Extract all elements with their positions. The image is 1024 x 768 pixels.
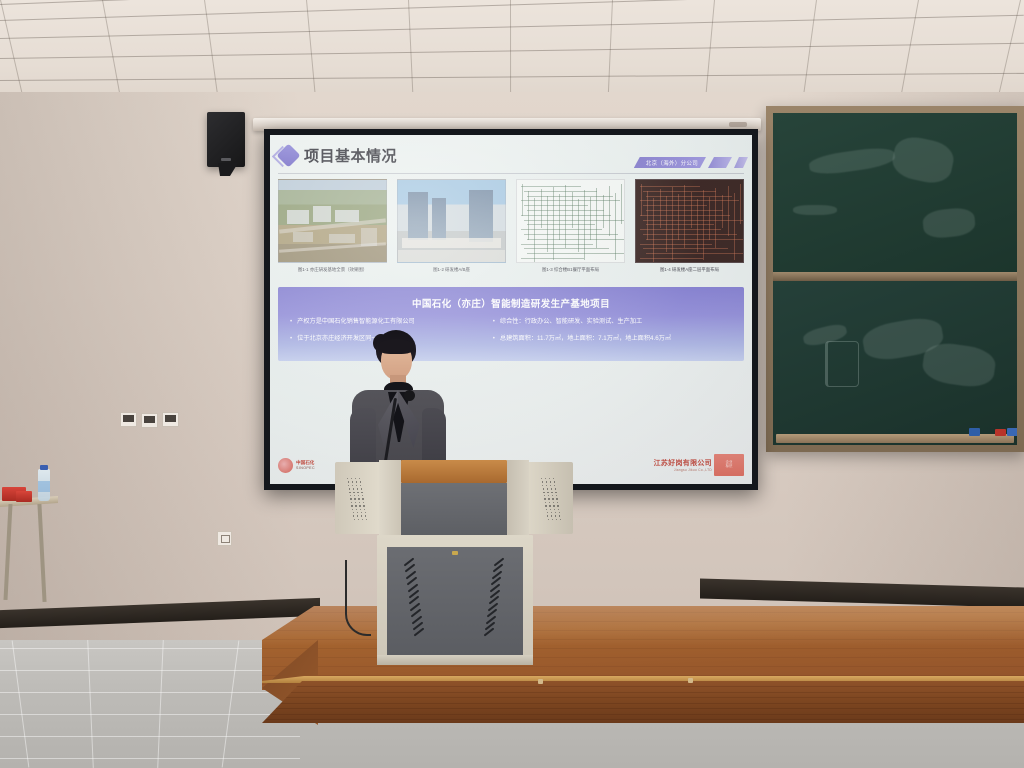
- speaker-perforation: [362, 519, 363, 520]
- speaker-perforation: [543, 488, 544, 489]
- speaker-perforation: [352, 509, 353, 510]
- speaker-perforation: [365, 512, 366, 513]
- ceiling-grid-line: [899, 0, 919, 106]
- light-switch-3[interactable]: [162, 412, 179, 427]
- speaker-perforation: [358, 519, 359, 520]
- floor-tile-line: [0, 714, 300, 715]
- cad-line: [740, 184, 741, 224]
- cad-line: [640, 244, 712, 245]
- cad-line: [646, 253, 744, 254]
- floor-tile-line: [157, 640, 164, 768]
- speaker-perforation: [349, 488, 350, 489]
- wood-grain: [262, 714, 1024, 715]
- cad-line: [703, 190, 704, 260]
- podium-neck-right: [507, 460, 529, 536]
- speaker-perforation: [550, 481, 551, 482]
- cad-line: [590, 197, 591, 240]
- speaker-perforation: [358, 498, 359, 499]
- bullet-item: •总建筑面积：11.7万㎡，地上面积：7.1万㎡，地上面积4.6万㎡: [493, 336, 732, 343]
- housing-knob: [729, 122, 747, 127]
- bullet-dot: •: [493, 319, 495, 326]
- cad-line: [524, 220, 625, 221]
- cad-line: [524, 234, 618, 235]
- speaker-perforation: [555, 492, 556, 493]
- speaker-perforation: [553, 502, 554, 503]
- slide-header: 项目基本情况: [280, 145, 397, 166]
- cad-line: [553, 187, 554, 260]
- floor-tile-line: [222, 640, 240, 767]
- speaker-perforation: [550, 509, 551, 510]
- cad-line: [643, 220, 744, 221]
- ceiling-grid-line: [204, 0, 220, 107]
- sinopec-mark-icon: [278, 458, 293, 473]
- speaker-perforation: [560, 519, 561, 520]
- speaker-perforation: [552, 519, 553, 520]
- project-title: 中国石化（亦庄）智能制造研发生产基地项目: [278, 287, 744, 310]
- speaker-perforation: [543, 492, 544, 493]
- figure-2-caption: 图1-2 研发楼A/B座: [399, 267, 504, 273]
- figure-4-caption: 图1-4 研发楼A座二层平面布局: [637, 267, 742, 273]
- speaker-perforation: [362, 498, 363, 499]
- speaker-perforation: [354, 519, 355, 520]
- speaker-perforation: [361, 515, 362, 516]
- cad-line: [534, 198, 535, 263]
- cad-line: [547, 196, 548, 252]
- hair-front: [378, 339, 414, 354]
- speaker-perforation: [353, 512, 354, 513]
- speaker-perforation: [551, 512, 552, 513]
- light-switch-1[interactable]: [120, 412, 137, 427]
- wood-grain: [262, 719, 1024, 720]
- cad-line: [522, 184, 523, 216]
- speaker-perforation: [357, 515, 358, 516]
- floor-tile-line: [87, 640, 94, 768]
- stage-screw-1: [538, 679, 543, 684]
- speaker-perforation: [361, 512, 362, 513]
- company-logo-en: Jiangsu Jikuo Co.,LTD: [674, 468, 712, 472]
- speaker-perforation: [359, 505, 360, 506]
- cad-line: [647, 191, 648, 240]
- floor-tile-line: [0, 648, 300, 649]
- speaker-perforation: [366, 519, 367, 520]
- speaker-perforation: [552, 495, 553, 496]
- speaker-perforation: [554, 481, 555, 482]
- cad-line: [734, 193, 735, 260]
- floor-tile-line: [12, 640, 30, 767]
- cad-line: [728, 186, 729, 236]
- speaker-perforation: [361, 488, 362, 489]
- bullet-dot: •: [493, 336, 495, 343]
- cad-line: [596, 188, 597, 248]
- figure-3-caption: 图1-3 综合楼B1餐厅平面布局: [518, 267, 623, 273]
- figure-3-image: [516, 179, 625, 263]
- bullet-text: 综合性：行政办公、智能研发、实验测试、生产加工: [500, 319, 642, 326]
- speaker-perforation: [544, 495, 545, 496]
- speaker-perforation: [551, 488, 552, 489]
- cad-line: [660, 189, 661, 228]
- cad-line: [615, 193, 616, 260]
- speaker-perforation: [357, 512, 358, 513]
- speaker-perforation: [555, 488, 556, 489]
- stage-front-face: [262, 681, 1024, 723]
- cad-line: [521, 244, 593, 245]
- figure-1-caption: 图1-1 亦庄研发基地全景（效果图）: [280, 267, 385, 273]
- floor-tile-line: [0, 692, 300, 693]
- stage-screw-2: [688, 678, 693, 683]
- ceiling-grid-line: [0, 73, 1024, 81]
- speaker-perforation: [349, 492, 350, 493]
- speaker-perforation: [350, 498, 351, 499]
- speaker-perforation: [554, 485, 555, 486]
- figure-1-image: [278, 179, 387, 263]
- company-logo-right: 江苏好岗有限公司 Jiangsu Jikuo Co.,LTD 企业标识: [654, 454, 744, 476]
- speaker-perforation: [548, 519, 549, 520]
- cad-line: [559, 194, 560, 240]
- speaker-perforation: [545, 478, 546, 479]
- cad-line: [521, 186, 581, 187]
- speaker-perforation: [357, 488, 358, 489]
- podium-lock-icon[interactable]: [452, 551, 458, 555]
- bullet-column-right: •综合性：行政办公、智能研发、实验测试、生产加工 •总建筑面积：11.7万㎡，地…: [493, 319, 732, 353]
- blackboard-surface: [773, 113, 1017, 445]
- speaker-perforation: [353, 488, 354, 489]
- cad-line: [541, 189, 542, 228]
- cad-line: [672, 187, 673, 260]
- speaker-perforation: [351, 478, 352, 479]
- speaker-perforation: [547, 512, 548, 513]
- ceiling-grid-line: [0, 43, 1024, 59]
- speaker-perforation: [359, 478, 360, 479]
- ceiling-grid-line: [0, 15, 1024, 39]
- bottle-cap: [40, 465, 48, 470]
- chalk-box-1: [969, 428, 980, 436]
- cad-line: [578, 199, 579, 252]
- speaker-perforation: [545, 505, 546, 506]
- speaker-perforation: [359, 502, 360, 503]
- cad-line: [666, 196, 667, 252]
- lecture-hall-scene: 项目基本情况 北京（海外）分公司: [0, 0, 1024, 768]
- podium-control-panel[interactable]: [401, 483, 507, 535]
- bullet-item: •产权方是中国石化销售智能源化工有限公司: [290, 319, 493, 326]
- wood-grain: [262, 697, 1024, 698]
- speaker-perforation: [557, 502, 558, 503]
- cad-line: [524, 248, 609, 249]
- cad-line: [646, 239, 744, 240]
- company-logo-cn: 江苏好岗有限公司: [654, 458, 712, 468]
- company-badge-text: 企业标识: [726, 461, 733, 469]
- speaker-perforation: [559, 512, 560, 513]
- cad-line: [641, 184, 642, 216]
- speaker-perforation: [347, 478, 348, 479]
- cad-line: [684, 185, 685, 248]
- figure-1: 图1-1 亦庄研发基地全景（效果图）: [278, 179, 387, 273]
- speaker-perforation: [357, 492, 358, 493]
- podium-neck-left: [379, 460, 401, 536]
- floor-tile-line: [0, 758, 300, 759]
- speaker-perforation: [558, 509, 559, 510]
- cad-line: [697, 199, 698, 252]
- speaker-perforation: [559, 515, 560, 516]
- wood-grain: [262, 692, 1024, 693]
- wood-grain: [262, 703, 1024, 704]
- podium-wing-left: [335, 462, 383, 534]
- cad-line: [715, 188, 716, 248]
- speaker-perforation: [351, 505, 352, 506]
- speaker-perforation: [547, 515, 548, 516]
- speaker-perforation: [348, 485, 349, 486]
- speaker-perforation: [354, 498, 355, 499]
- cad-line: [709, 197, 710, 240]
- speaker-perforation: [351, 502, 352, 503]
- speaker-perforation: [355, 505, 356, 506]
- podium-wing-right: [525, 462, 573, 534]
- wood-grain: [262, 708, 1024, 709]
- speaker-perforation: [544, 498, 545, 499]
- sinopec-logo-en: SINOPEC: [296, 466, 315, 470]
- cad-line: [603, 195, 604, 228]
- speaker-perforation: [361, 492, 362, 493]
- cad-line: [678, 194, 679, 240]
- slide-title: 项目基本情况: [304, 145, 397, 166]
- speaker-perforation: [356, 509, 357, 510]
- speaker-perforation: [542, 481, 543, 482]
- figure-row: 图1-1 亦庄研发基地全景（效果图） 图1-2 研发楼A/B座: [278, 179, 744, 273]
- figure-3: 图1-3 综合楼B1餐厅平面布局: [516, 179, 625, 273]
- slide-corner-tag-group: 北京（海外）分公司: [634, 157, 748, 168]
- cad-line: [524, 191, 597, 192]
- cad-line: [521, 200, 620, 201]
- cad-line: [691, 192, 692, 228]
- cad-line: [653, 198, 654, 263]
- speaker-perforation: [362, 495, 363, 496]
- blackboard-upper-panel: [773, 113, 1017, 272]
- microphone-icon: [404, 390, 415, 401]
- ceiling-grid-line: [0, 0, 25, 105]
- wall-shading-left: [0, 92, 300, 652]
- podium-cabinet-door[interactable]: [387, 547, 523, 655]
- speaker-perforation: [557, 505, 558, 506]
- speaker-perforation: [549, 478, 550, 479]
- speaker-perforation: [549, 502, 550, 503]
- speaker-perforation: [546, 485, 547, 486]
- speaker-perforation: [355, 502, 356, 503]
- slide-divider: [278, 173, 744, 174]
- speaker-perforation: [546, 509, 547, 510]
- figure-4-image: [635, 179, 744, 263]
- speaker-perforation: [556, 519, 557, 520]
- speaker-perforation: [363, 505, 364, 506]
- speaker-perforation: [358, 495, 359, 496]
- sinopec-logo: 中国石化 SINOPEC: [278, 458, 315, 473]
- speaker-perforation: [356, 481, 357, 482]
- speaker-perforation: [551, 492, 552, 493]
- speaker-perforation: [363, 502, 364, 503]
- corner-tag-deco-2: [734, 157, 748, 168]
- cad-line: [565, 185, 566, 248]
- podium: [335, 455, 573, 677]
- cad-line: [640, 186, 700, 187]
- podium-base: [377, 655, 533, 665]
- cad-line: [584, 190, 585, 260]
- cad-line: [643, 248, 728, 249]
- speaker-perforation: [360, 509, 361, 510]
- speaker-perforation: [348, 481, 349, 482]
- speaker-logo: [221, 158, 231, 161]
- speaker-perforation: [550, 485, 551, 486]
- speaker-perforation: [553, 478, 554, 479]
- speaker-perforation: [551, 515, 552, 516]
- speaker-perforation: [353, 492, 354, 493]
- speaker-perforation: [542, 485, 543, 486]
- speaker-perforation: [552, 498, 553, 499]
- speaker-perforation: [352, 481, 353, 482]
- speaker-perforation: [556, 495, 557, 496]
- speaker-perforation: [548, 495, 549, 496]
- bottle-label: [38, 481, 50, 492]
- figure-2-image: [397, 179, 506, 263]
- speaker-perforation: [360, 485, 361, 486]
- speaker-perforation: [356, 485, 357, 486]
- speaker-perforation: [548, 498, 549, 499]
- cad-line: [527, 253, 625, 254]
- figure-2: 图1-2 研发楼A/B座: [397, 179, 506, 273]
- floor-tile-line: [0, 670, 300, 671]
- blackboard-divider: [773, 272, 1017, 281]
- bullet-dot: •: [290, 336, 292, 343]
- cad-line: [640, 200, 739, 201]
- bullet-text: 产权方是中国石化销售智能源化工有限公司: [297, 319, 415, 326]
- speaker-perforation: [555, 515, 556, 516]
- cad-line: [609, 186, 610, 236]
- corner-tag-deco-1: [708, 157, 732, 168]
- wall-outlet[interactable]: [217, 531, 232, 546]
- speaker-perforation: [547, 488, 548, 489]
- red-package-2: [16, 491, 32, 502]
- speaker-perforation: [352, 485, 353, 486]
- company-badge: 企业标识: [714, 454, 744, 476]
- speaker-perforation: [365, 515, 366, 516]
- speaker-perforation: [350, 495, 351, 496]
- cad-line: [528, 191, 529, 240]
- speaker-perforation: [554, 509, 555, 510]
- floor-tile-line: [0, 736, 300, 737]
- speaker-perforation: [355, 478, 356, 479]
- speaker-perforation: [545, 502, 546, 503]
- speaker-perforation: [541, 478, 542, 479]
- cad-line: [621, 184, 622, 224]
- cad-line: [643, 234, 737, 235]
- wood-grain: [262, 686, 1024, 687]
- speaker-perforation: [354, 495, 355, 496]
- podium-wood-top: [401, 460, 507, 483]
- speaker-perforation: [547, 492, 548, 493]
- figure-4: 图1-4 研发楼A座二层平面布局: [635, 179, 744, 273]
- chalk-box-2: [1007, 428, 1017, 436]
- speaker-perforation: [360, 481, 361, 482]
- cad-line: [722, 195, 723, 228]
- wall-speaker: [207, 112, 245, 167]
- speaker-perforation: [364, 509, 365, 510]
- projector-screen: 项目基本情况 北京（海外）分公司: [264, 129, 758, 490]
- speaker-perforation: [549, 505, 550, 506]
- speaker-perforation: [556, 498, 557, 499]
- cad-line: [643, 191, 716, 192]
- speaker-perforation: [555, 512, 556, 513]
- light-switch-2[interactable]: [141, 413, 158, 428]
- blackboard: [766, 106, 1024, 452]
- speaker-perforation: [546, 481, 547, 482]
- speaker-perforation: [553, 505, 554, 506]
- bullet-text: 总建筑面积：11.7万㎡，地上面积：7.1万㎡，地上面积4.6万㎡: [500, 336, 671, 343]
- corner-tag: 北京（海外）分公司: [634, 157, 706, 168]
- bullet-dot: •: [290, 319, 292, 326]
- eraser: [995, 429, 1006, 436]
- cad-line: [572, 192, 573, 228]
- cad-line: [527, 239, 625, 240]
- bullet-item: •综合性：行政办公、智能研发、实验测试、生产加工: [493, 319, 732, 326]
- speaker-perforation: [353, 515, 354, 516]
